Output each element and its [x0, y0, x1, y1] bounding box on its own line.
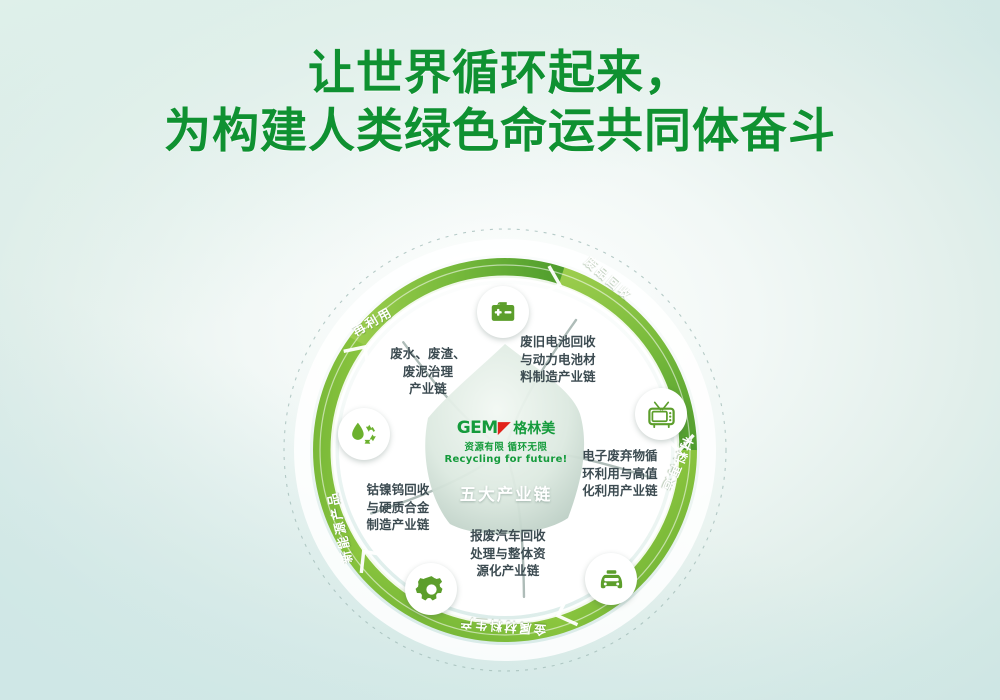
- icon-bubble-car[interactable]: [585, 553, 637, 605]
- water-recycle-icon: [348, 418, 380, 450]
- icon-bubble-water-recycle[interactable]: [338, 408, 390, 460]
- gear-icon: [416, 574, 447, 605]
- page-title: 让世界循环起来， 为构建人类绿色命运共同体奋斗: [0, 44, 1000, 161]
- gem-triangle-icon: ◤: [498, 418, 511, 438]
- icon-bubble-television[interactable]: [635, 388, 687, 440]
- logo-slogan-en: Recycling for future!: [428, 454, 584, 465]
- battery-icon: [488, 297, 518, 327]
- icon-bubble-battery[interactable]: [477, 286, 529, 338]
- gem-brand-cn: 格林美: [513, 418, 555, 438]
- segment-label-scrap-car-chain: 报废汽车回收 处理与整体资 源化产业链: [455, 528, 561, 581]
- segment-label-waste-water-chain: 废水、废渣、 废泥治理 产业链: [372, 346, 484, 399]
- center-caption: 五大产业链: [428, 481, 584, 505]
- page-title-line2: 为构建人类绿色命运共同体奋斗: [0, 102, 1000, 160]
- logo-wordmark-row: GEM◤ 格林美: [428, 418, 584, 438]
- television-icon: [646, 399, 677, 430]
- logo-slogan-cn: 资源有限 循环无限: [428, 439, 584, 453]
- car-icon: [596, 564, 627, 595]
- segment-label-battery-chain: 废旧电池回收 与动力电池材 料制造产业链: [505, 334, 611, 387]
- center-logo: GEM◤ 格林美 资源有限 循环无限 Recycling for future!…: [428, 418, 584, 505]
- page-title-line1: 让世界循环起来，: [308, 46, 692, 99]
- icon-bubble-gear[interactable]: [405, 563, 457, 615]
- recycling-cycle-diagram: 废品回收 材料再造 金属材料生产 新能源产品 再利用 废旧电池回收 与动力电池材…: [280, 218, 730, 683]
- gem-wordmark: GEM◤: [457, 418, 511, 438]
